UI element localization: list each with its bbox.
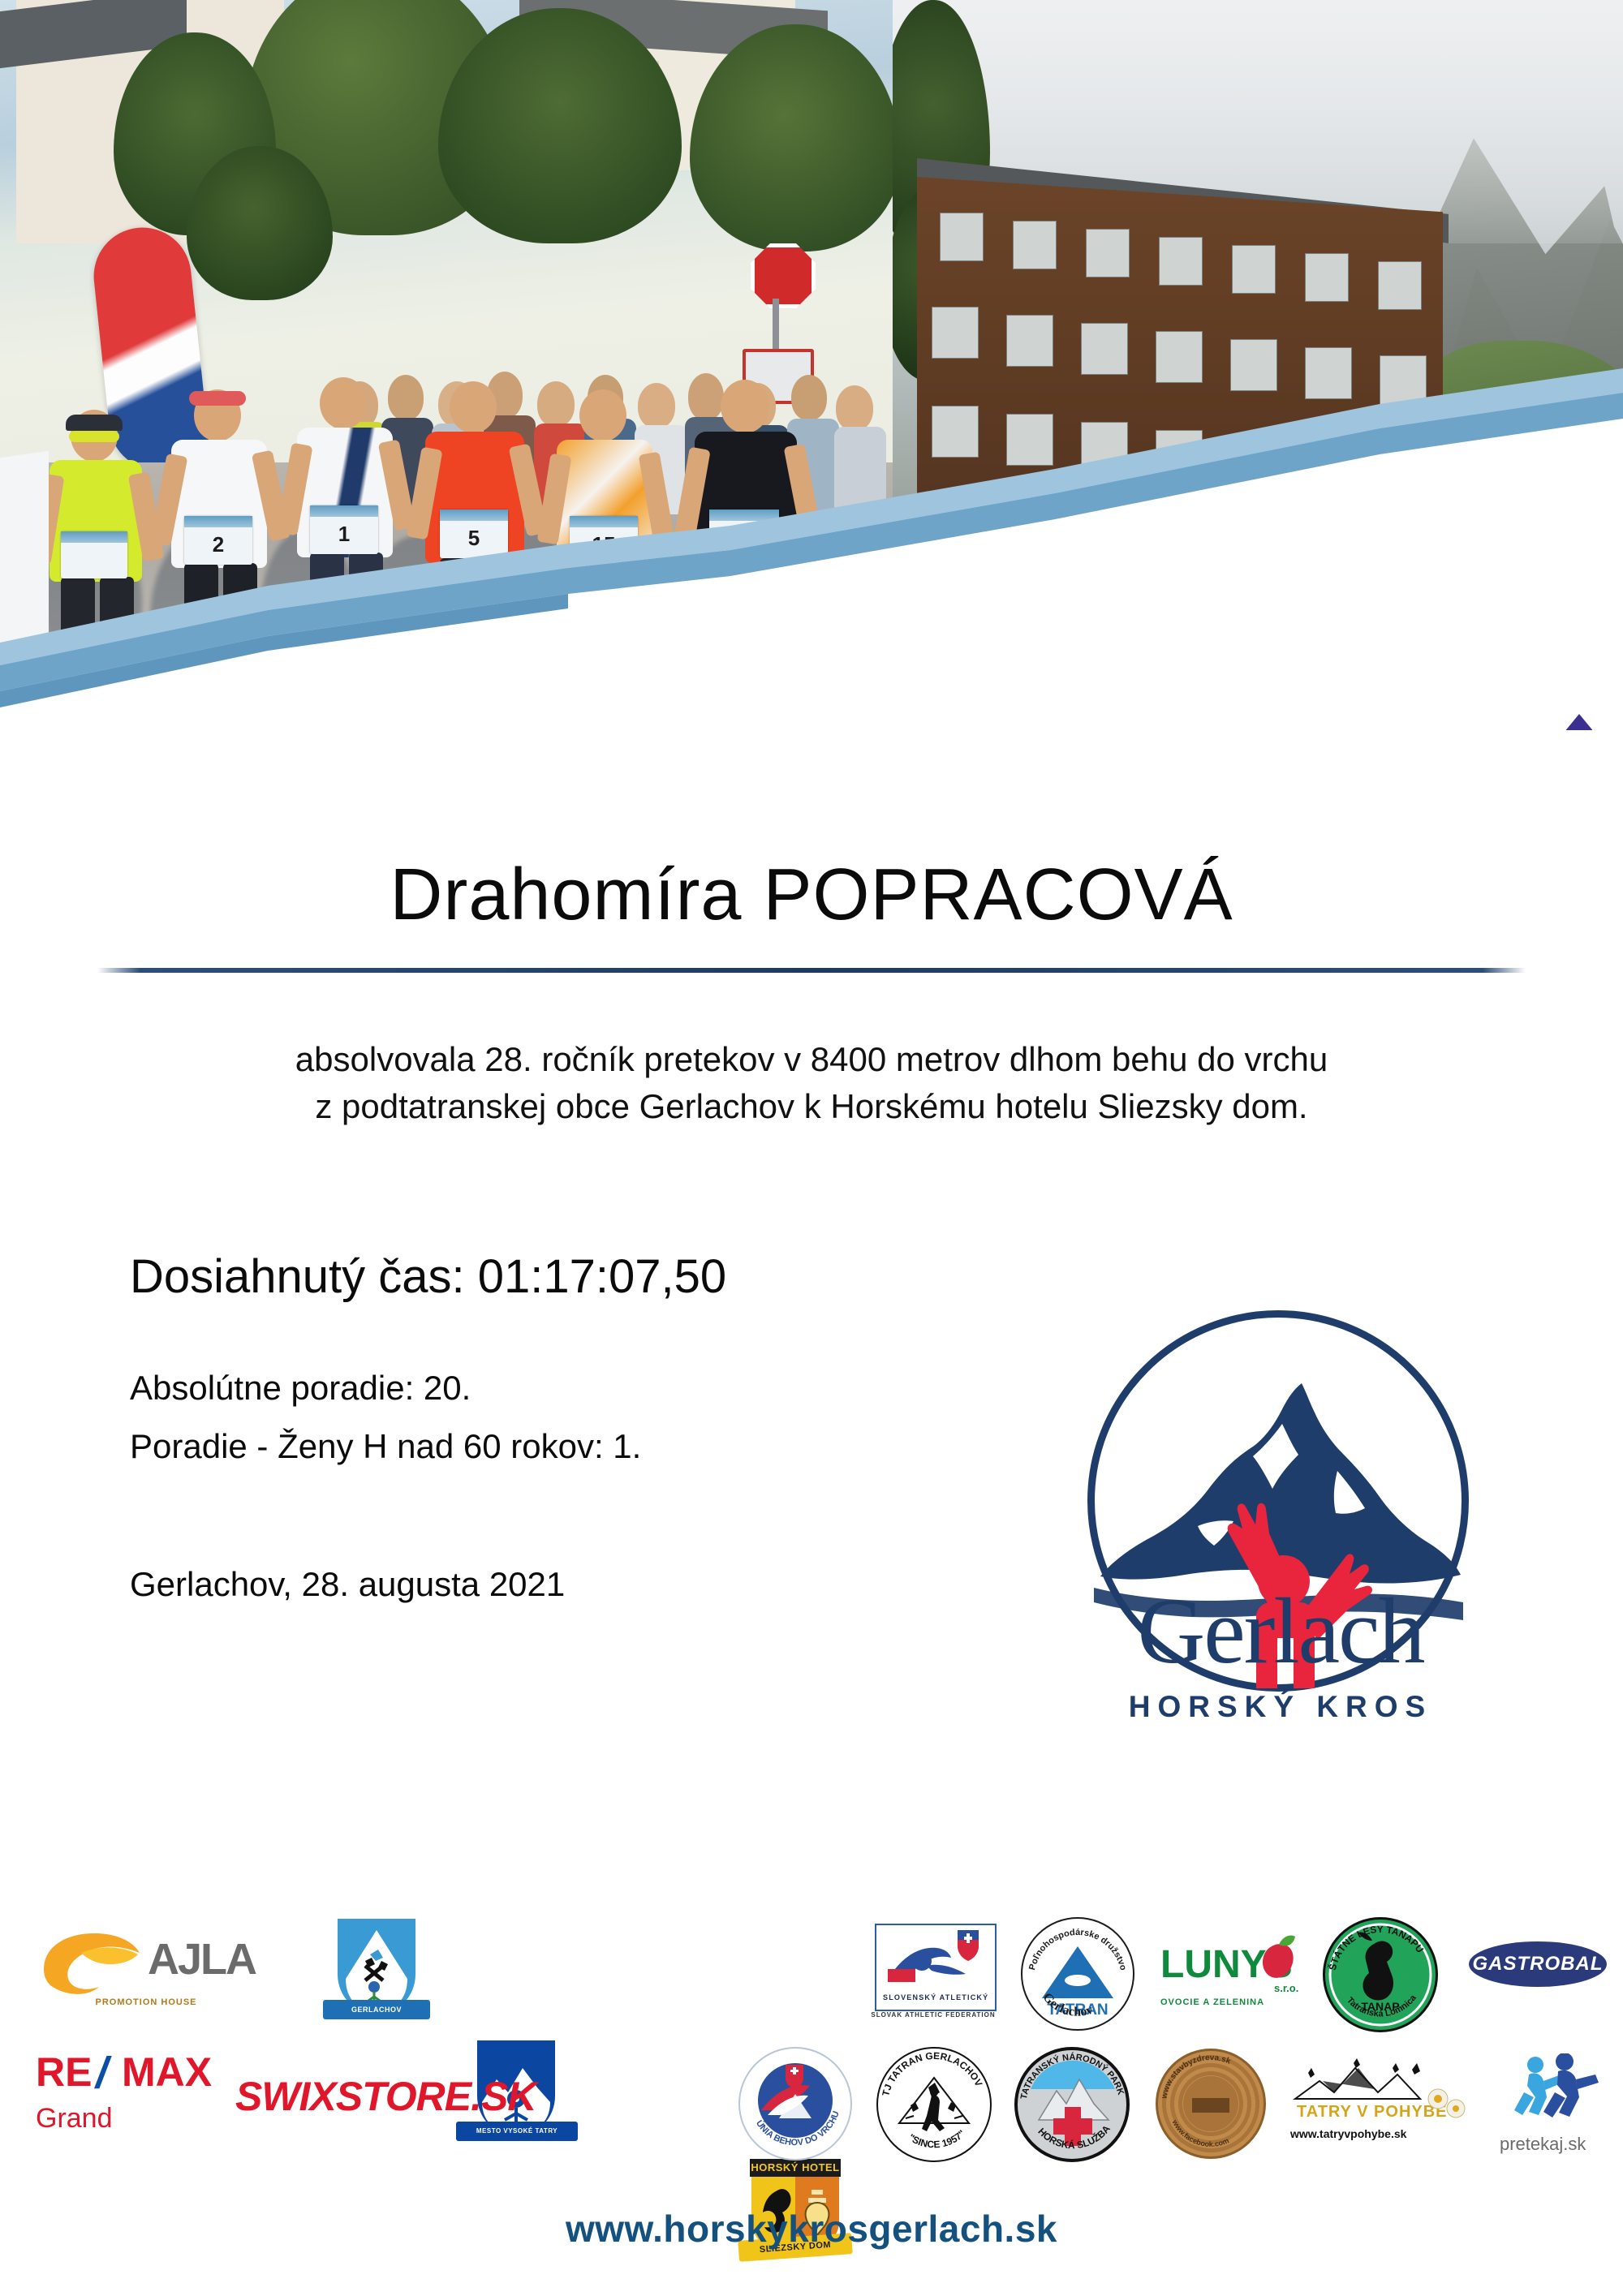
hotel-window bbox=[1305, 347, 1352, 399]
sponsor-gerlachov-crest: GERLACHOV bbox=[316, 1915, 438, 2037]
pretekaj-wordmark: pretekaj.sk bbox=[1500, 2134, 1621, 2155]
hotel-window bbox=[1081, 422, 1128, 474]
sponsor-caption: Grand bbox=[36, 2103, 239, 2135]
lunys-icon: LUNYS s.r.o. bbox=[1160, 1933, 1307, 1997]
stop-sign bbox=[751, 243, 816, 308]
sponsor-slovensky-atleticky-zvaz: SLOVENSKÝ ATLETICKÝ ZVÄZ SLOVAK ATHLETIC… bbox=[868, 1920, 998, 2034]
skier-icon: TJ TATRAN GERLACHOV "SINCE 1957" bbox=[878, 2049, 990, 2161]
scree-rock bbox=[1526, 519, 1573, 547]
sliezsky-dom-photo bbox=[893, 0, 1623, 730]
sponsor-remax: RE / MAX Grand bbox=[36, 2047, 239, 2144]
rank-absolute: Absolútne poradie: 20. bbox=[130, 1369, 982, 1408]
sponsor-pretekaj: pretekaj.sk bbox=[1500, 2053, 1621, 2159]
swixstore-wordmark: SWIXSTORE.SK bbox=[235, 2073, 527, 2120]
runner: 5 bbox=[414, 381, 540, 710]
race-description: absolvovala 28. ročník pretekov v 8400 m… bbox=[122, 1036, 1501, 1130]
results-block: Dosiahnutý čas: 01:17:07,50 Absolútne po… bbox=[130, 1249, 982, 1604]
hotel-window bbox=[1086, 229, 1130, 277]
sponsor-unia-behov-do-vrchu: ÚNIA BEHOV DO VRCHU bbox=[738, 2047, 852, 2161]
bib-number: 2 bbox=[184, 516, 252, 565]
svg-text:AJLA: AJLA bbox=[148, 1935, 256, 1984]
stone bbox=[1347, 646, 1410, 681]
runner: 2 bbox=[37, 410, 158, 710]
sponsor-swixstore: SWIXSTORE.SK bbox=[235, 2073, 527, 2130]
svg-text:TATRY V POHYBE: TATRY V POHYBE bbox=[1297, 2103, 1448, 2121]
sponsor-stavby-z-dreva: www.stavbyzdreva.sk www.facebook.com bbox=[1156, 2049, 1266, 2159]
athlete-name: Drahomíra POPRACOVÁ bbox=[0, 730, 1623, 937]
logo-subtitle: HORSKÝ KROS bbox=[1045, 1690, 1516, 1724]
hotel-window bbox=[1232, 245, 1276, 294]
gajla-icon: AJLA bbox=[32, 1928, 260, 1998]
chamois-icon: TANAP ŠTÁTNE LESY TANAPU Tatranská Lomni… bbox=[1325, 1920, 1436, 2030]
unia-icon: ÚNIA BEHOV DO VRCHU bbox=[740, 2049, 850, 2159]
hotel-window bbox=[1159, 237, 1203, 286]
stone bbox=[1094, 651, 1147, 681]
logo-wordmark: Gerlach bbox=[1045, 1578, 1516, 1686]
hotel-window bbox=[1305, 446, 1352, 498]
runners-icon bbox=[1500, 2053, 1613, 2128]
event-flag bbox=[1315, 519, 1332, 617]
bib-number: 15 bbox=[570, 516, 638, 565]
race-start-photo: 2 2 1 bbox=[0, 0, 893, 730]
hotel-window bbox=[1305, 253, 1349, 302]
course-pole bbox=[1347, 560, 1354, 681]
athlete-icon: SLOVENSKÝ ATLETICKÝ ZVÄZ bbox=[876, 1925, 992, 2006]
place-and-date: Gerlachov, 28. augusta 2021 bbox=[130, 1565, 982, 1604]
hotel-window bbox=[1081, 323, 1128, 375]
svg-text:s.r.o.: s.r.o. bbox=[1274, 1982, 1298, 1994]
trail-runner bbox=[1242, 568, 1274, 657]
sponsor-caption: SLOVAK ATHLETIC FEDERATION bbox=[868, 2011, 998, 2019]
stone bbox=[966, 649, 1018, 680]
hotel-window bbox=[1006, 315, 1053, 367]
hotel-window bbox=[1378, 261, 1422, 310]
crowd-person bbox=[834, 427, 886, 516]
tatry-v-pohybe-icon: TATRY V POHYBE bbox=[1290, 2057, 1477, 2126]
runner: 15 bbox=[544, 389, 669, 710]
sponsor-caption: www.tatryvpohybe.sk bbox=[1290, 2127, 1477, 2140]
hotel-window bbox=[1230, 438, 1277, 490]
hotel-window bbox=[1156, 430, 1203, 482]
svg-text:RE: RE bbox=[36, 2049, 92, 2095]
gerlach-horsky-kros-logo: Gerlach HORSKÝ KROS bbox=[1045, 1310, 1516, 1765]
bib-number: 1 bbox=[310, 505, 378, 554]
mountain-rescue-icon: TATRANSKÝ NÁRODNÝ PARK HORSKÁ SLUŽBA bbox=[1018, 2050, 1128, 2161]
hotel-window bbox=[932, 406, 979, 458]
sponsor-caption: OVOCIE A ZELENINA bbox=[1160, 1997, 1307, 2007]
description-line-2: z podtatranskej obce Gerlachov k Horském… bbox=[122, 1083, 1501, 1130]
description-line-1: absolvovala 28. ročník pretekov v 8400 m… bbox=[122, 1036, 1501, 1083]
hotel-window bbox=[1230, 339, 1277, 391]
sponsor-tatry-v-pohybe: TATRY V POHYBE www.tatryvpohybe.sk bbox=[1290, 2057, 1477, 2154]
sponsor-horska-sluzba: TATRANSKÝ NÁRODNÝ PARK HORSKÁ SLUŽBA bbox=[1014, 2047, 1130, 2162]
svg-text:MAX: MAX bbox=[122, 2049, 212, 2095]
hotel-window bbox=[1006, 414, 1053, 466]
hotel-window bbox=[932, 307, 979, 359]
remax-icon: RE / MAX bbox=[36, 2047, 239, 2096]
hotel-window bbox=[940, 213, 984, 261]
footer-website-url[interactable]: www.horskykrosgerlach.sk bbox=[0, 2207, 1623, 2251]
sponsor-lunys: LUNYS s.r.o. OVOCIE A ZELENINA bbox=[1160, 1933, 1307, 2023]
scree-rock bbox=[1574, 475, 1613, 499]
sponsor-caption: PROMOTION HOUSE bbox=[32, 1997, 260, 2007]
runner: 34 bbox=[682, 380, 816, 712]
crowd-person bbox=[836, 385, 873, 431]
svg-text:/: / bbox=[94, 2049, 112, 2096]
stone bbox=[1420, 654, 1477, 686]
title-divider bbox=[97, 968, 1526, 973]
start-banner bbox=[0, 451, 49, 660]
bib-number: 2 bbox=[61, 531, 127, 578]
sponsor-gastrobal: GASTROBAL bbox=[1469, 1941, 1607, 1990]
sponsor-gajla: AJLA PROMOTION HOUSE bbox=[32, 1928, 260, 2018]
hotel-window bbox=[1013, 221, 1057, 269]
stone bbox=[901, 641, 958, 673]
stone bbox=[1558, 652, 1615, 685]
crest-ribbon: GERLACHOV bbox=[323, 2000, 430, 2019]
bib-number: 34 bbox=[709, 510, 779, 560]
svg-text:SLOVENSKÝ ATLETICKÝ ZVÄZ: SLOVENSKÝ ATLETICKÝ ZVÄZ bbox=[883, 1993, 992, 2001]
sponsor-strip: AJLA PROMOTION HOUSE RE / MAX Grand GERL… bbox=[0, 1911, 1623, 2203]
svg-text:"SINCE 1957": "SINCE 1957" bbox=[906, 2128, 967, 2151]
tatran-icon: TATRAN Poľnohospodárske družstvo Gerlach… bbox=[1022, 1919, 1133, 2029]
gastrobal-wordmark: GASTROBAL bbox=[1469, 1941, 1607, 1987]
runner: 2 bbox=[158, 389, 284, 710]
sponsor-pd-tatran: TATRAN Poľnohospodárske družstvo Gerlach… bbox=[1021, 1917, 1134, 2031]
timber-icon: www.stavbyzdreva.sk www.facebook.com bbox=[1158, 2051, 1264, 2156]
scree-rock bbox=[1469, 487, 1511, 513]
bib-number: 5 bbox=[440, 510, 508, 558]
hotel-window bbox=[1380, 355, 1427, 407]
vehicle bbox=[1321, 578, 1417, 618]
hotel-window bbox=[1380, 454, 1427, 506]
stone bbox=[1485, 643, 1550, 680]
photo-banner: 2 2 1 bbox=[0, 0, 1623, 730]
certificate-body: Drahomíra POPRACOVÁ absolvovala 28. ročn… bbox=[0, 730, 1623, 1130]
finish-time: Dosiahnutý čas: 01:17:07,50 bbox=[130, 1249, 982, 1304]
sponsor-statne-lesy-tanapu: TANAP ŠTÁTNE LESY TANAPU Tatranská Lomni… bbox=[1323, 1917, 1438, 2032]
runner: 1 bbox=[284, 377, 410, 710]
hotel-window bbox=[1156, 331, 1203, 383]
sponsor-tj-tatran-gerlachov: TJ TATRAN GERLACHOV "SINCE 1957" bbox=[876, 2047, 992, 2162]
trail-sign bbox=[1185, 552, 1219, 589]
station-marker-icon bbox=[1556, 714, 1602, 730]
rank-category: Poradie - Ženy H nad 60 rokov: 1. bbox=[130, 1427, 982, 1466]
